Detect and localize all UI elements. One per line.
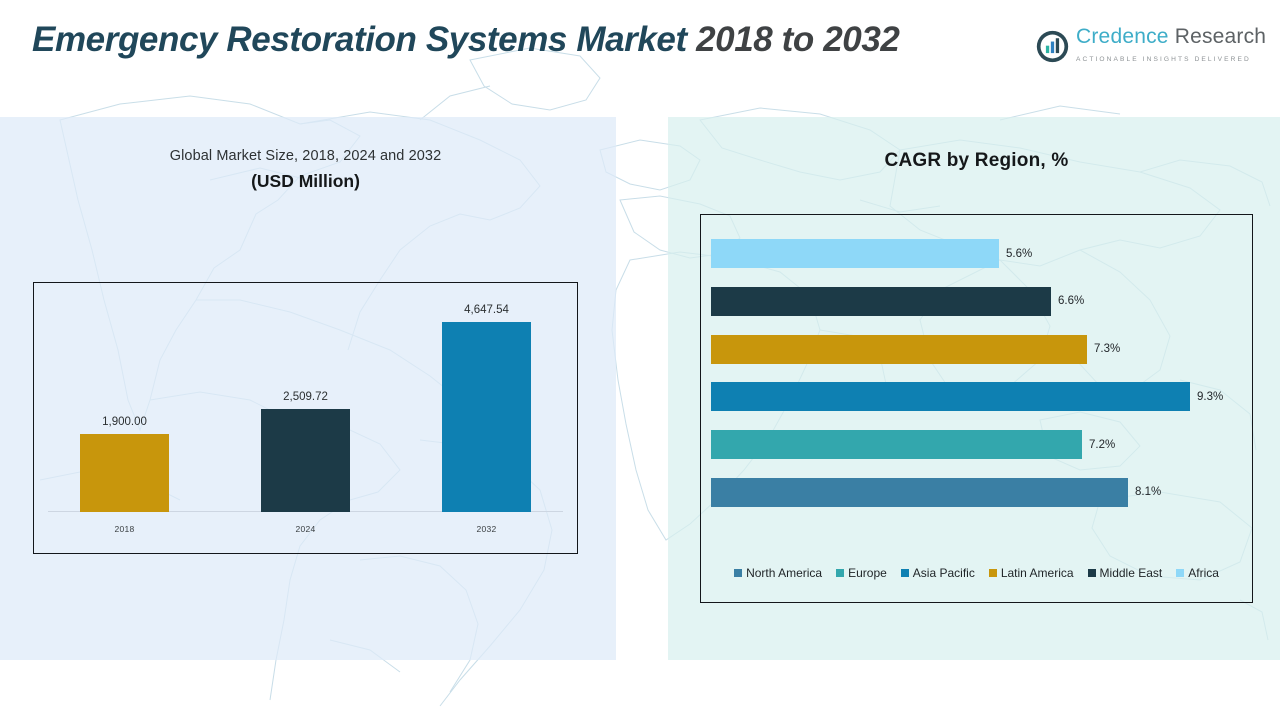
legend-item[interactable]: Europe [836, 566, 887, 580]
bar [442, 322, 531, 512]
hbar-row: 8.1% [711, 478, 1242, 507]
legend-item[interactable]: North America [734, 566, 822, 580]
legend-swatch-icon [1088, 569, 1096, 577]
brand-name-first: Credence [1076, 25, 1169, 48]
legend-label: Middle East [1100, 566, 1163, 580]
header: Emergency Restoration Systems Market 201… [0, 0, 1280, 117]
bar-cell: 2,509.72 [235, 291, 377, 512]
legend-item[interactable]: Latin America [989, 566, 1074, 580]
x-axis-tick-label: 2018 [54, 524, 196, 534]
hbar-value-label: 8.1% [1135, 486, 1161, 498]
bar-value-label: 4,647.54 [464, 304, 509, 316]
legend-label: Europe [848, 566, 887, 580]
hbar-value-label: 9.3% [1197, 391, 1223, 403]
legend-swatch-icon [989, 569, 997, 577]
cagr-by-region-chart: 5.6%6.6%7.3%9.3%7.2%8.1% North AmericaEu… [700, 214, 1253, 603]
legend-label: Latin America [1001, 566, 1074, 580]
legend-swatch-icon [734, 569, 742, 577]
legend-swatch-icon [1176, 569, 1184, 577]
legend-label: North America [746, 566, 822, 580]
brand-name: Credence Research [1076, 25, 1266, 48]
legend-label: Asia Pacific [913, 566, 975, 580]
left-chart-title-line1: Global Market Size, 2018, 2024 and 2032 [33, 148, 578, 164]
bar-cell: 1,900.00 [54, 291, 196, 512]
page-title: Emergency Restoration Systems Market 201… [32, 18, 1022, 62]
hbar-value-label: 5.6% [1006, 248, 1032, 260]
legend-item[interactable]: Africa [1176, 566, 1219, 580]
page-title-main: Emergency Restoration Systems Market [32, 20, 687, 59]
hbar-row: 7.3% [711, 335, 1242, 364]
hbar-value-label: 6.6% [1058, 295, 1084, 307]
hbar [711, 335, 1087, 364]
left-chart-title-line2: (USD Million) [33, 171, 578, 192]
hbar [711, 478, 1128, 507]
x-axis-labels: 201820242032 [34, 517, 577, 541]
vertical-bar-group: 1,900.002,509.724,647.54 [34, 291, 577, 512]
market-size-bar-chart: 1,900.002,509.724,647.54 201820242032 [33, 282, 578, 554]
market-size-plot-area: 1,900.002,509.724,647.54 201820242032 [34, 283, 577, 553]
brand-tagline: Actionable Insights Delivered [1076, 56, 1251, 63]
chart-legend: North AmericaEuropeAsia PacificLatin Ame… [711, 566, 1242, 580]
left-chart-title: Global Market Size, 2018, 2024 and 2032 … [33, 148, 578, 192]
legend-item[interactable]: Middle East [1088, 566, 1163, 580]
hbar [711, 239, 999, 268]
hbar [711, 430, 1082, 459]
hbar [711, 382, 1190, 411]
x-axis-tick-label: 2024 [235, 524, 377, 534]
bar [261, 409, 350, 512]
legend-item[interactable]: Asia Pacific [901, 566, 975, 580]
bar-chart-circle-icon [1036, 30, 1069, 63]
hbar-row: 9.3% [711, 382, 1242, 411]
page-title-years: 2018 to 2032 [696, 20, 899, 59]
bar-value-label: 2,509.72 [283, 391, 328, 403]
right-chart-title: CAGR by Region, % [700, 150, 1253, 172]
hbar-value-label: 7.3% [1094, 343, 1120, 355]
legend-swatch-icon [836, 569, 844, 577]
hbar-value-label: 7.2% [1089, 439, 1115, 451]
brand-name-second: Research [1175, 25, 1266, 48]
brand-logo-text: Credence Research Actionable Insights De… [1076, 26, 1280, 66]
bar [80, 434, 169, 512]
hbar-row: 5.6% [711, 239, 1242, 268]
legend-swatch-icon [901, 569, 909, 577]
x-axis-tick-label: 2032 [416, 524, 558, 534]
legend-label: Africa [1188, 566, 1219, 580]
brand-logo[interactable]: Credence Research Actionable Insights De… [1036, 26, 1280, 66]
bar-value-label: 1,900.00 [102, 416, 147, 428]
hbar-row: 6.6% [711, 287, 1242, 316]
bar-cell: 4,647.54 [416, 291, 558, 512]
horizontal-bar-group: 5.6%6.6%7.3%9.3%7.2%8.1% [711, 239, 1242, 507]
hbar-row: 7.2% [711, 430, 1242, 459]
hbar [711, 287, 1051, 316]
